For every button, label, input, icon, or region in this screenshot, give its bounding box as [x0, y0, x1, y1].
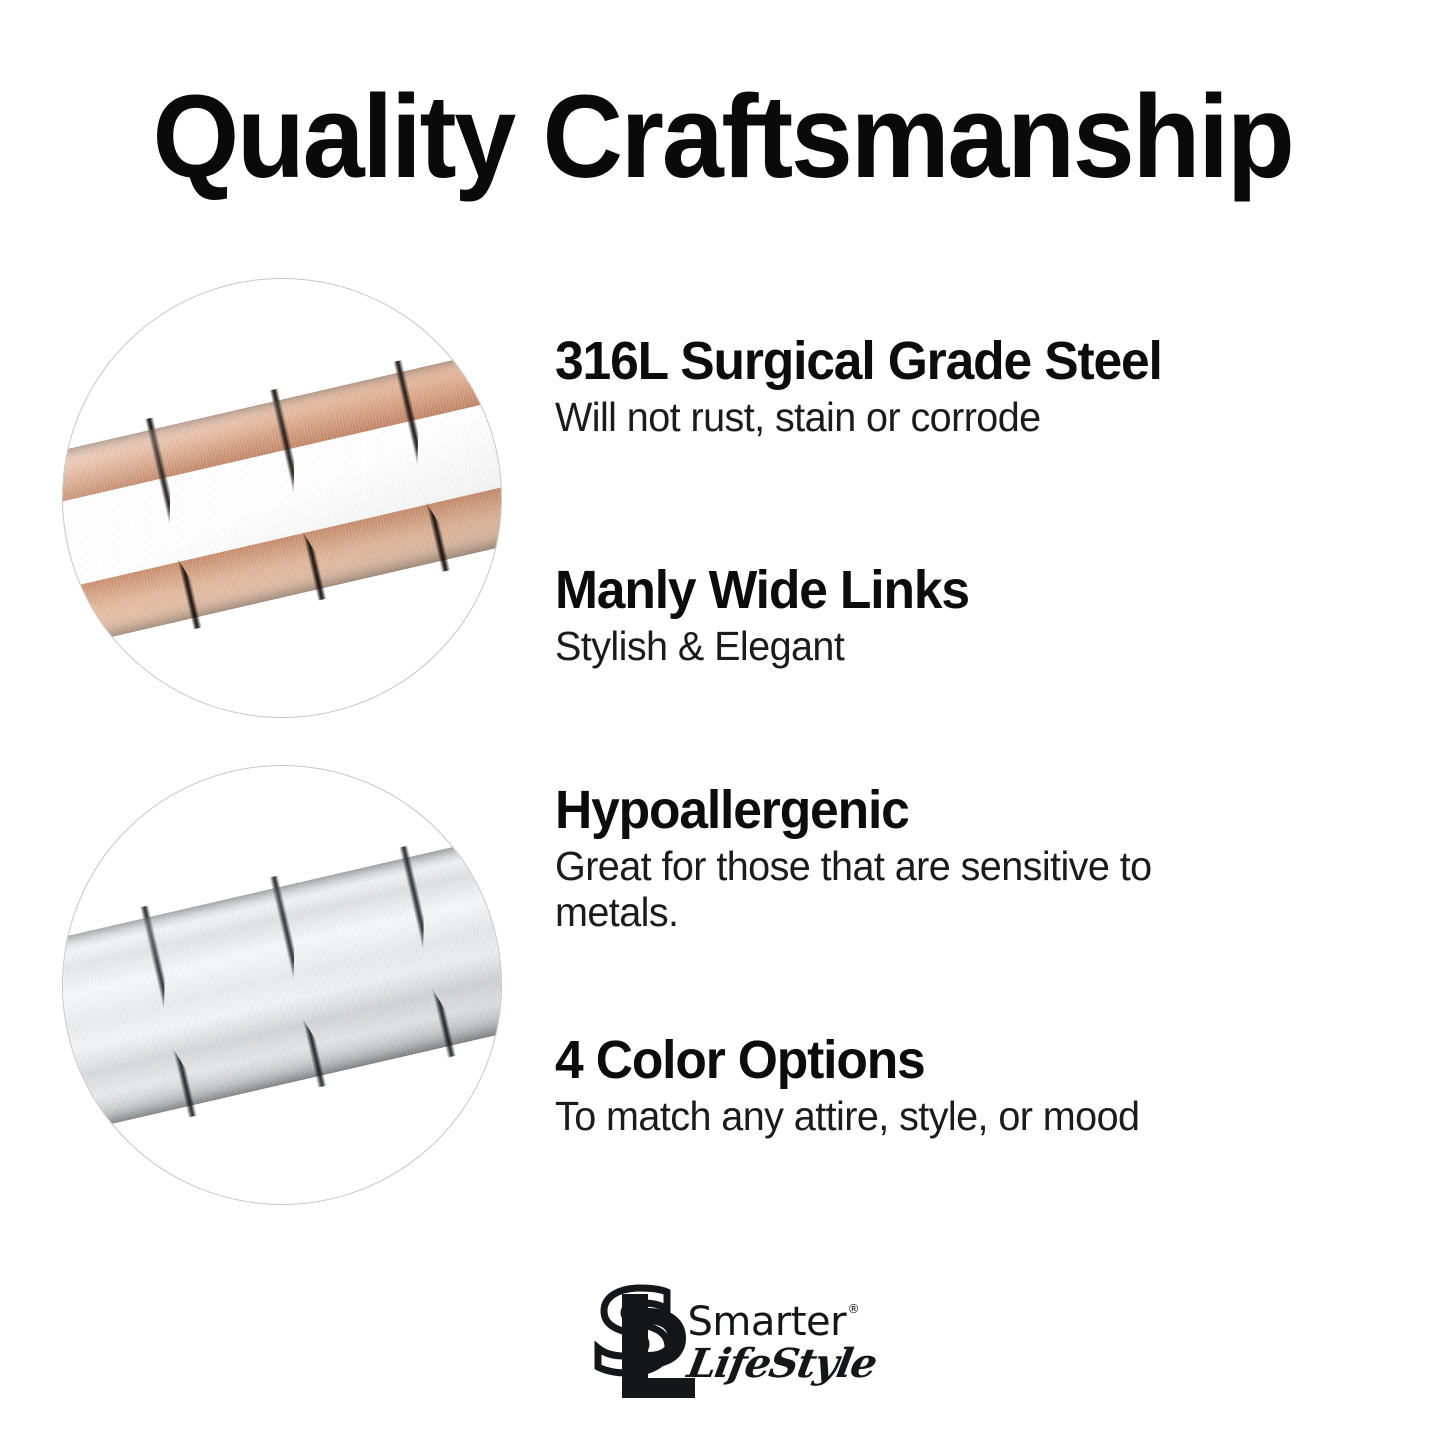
feature-title: Manly Wide Links — [555, 562, 1376, 618]
link-seam — [145, 417, 202, 629]
feature-item-color-options: 4 Color Options To match any attire, sty… — [555, 1032, 1415, 1140]
registered-trademark-icon: ® — [848, 1303, 860, 1315]
product-photo-silver-bracelet — [62, 765, 502, 1205]
product-photo-rose-gold-bracelet — [62, 278, 502, 718]
feature-title: 4 Color Options — [555, 1032, 1376, 1088]
bracelet-band-silver — [62, 826, 502, 1144]
link-seam — [139, 905, 196, 1117]
band-link-seams-silver — [62, 826, 502, 1144]
logo-smarter-text: Smarter ® — [688, 1302, 847, 1342]
link-seam — [269, 388, 326, 600]
link-seam — [62, 445, 78, 657]
logo-lifestyle-text: LifeStyle — [684, 1344, 875, 1384]
logo-wrap: Smarter ® LifeStyle — [580, 1282, 866, 1422]
link-seam — [62, 935, 67, 1147]
feature-item-hypoallergenic: Hypoallergenic Great for those that are … — [555, 782, 1415, 936]
feature-item-wide-links: Manly Wide Links Stylish & Elegant — [555, 562, 1415, 670]
feature-title: 316L Surgical Grade Steel — [555, 333, 1376, 389]
link-seam — [399, 845, 456, 1057]
link-seam — [393, 360, 450, 572]
feature-item-steel: 316L Surgical Grade Steel Will not rust,… — [555, 333, 1415, 441]
feature-subtitle: To match any attire, style, or mood — [555, 1094, 1385, 1140]
infographic-page: Quality Craftsmanship — [0, 0, 1445, 1445]
link-seam — [269, 875, 326, 1087]
logo-smarter-label: Smarter — [688, 1299, 847, 1345]
photo-inner-silver — [63, 766, 501, 1204]
bracelet-band-rose-gold — [62, 339, 502, 657]
feature-title: Hypoallergenic — [555, 782, 1376, 838]
sl-monogram-icon — [580, 1282, 700, 1400]
photo-inner-rose-gold — [63, 279, 501, 717]
feature-subtitle: Will not rust, stain or corrode — [555, 395, 1385, 441]
band-link-seams-rose — [62, 339, 502, 657]
feature-subtitle: Stylish & Elegant — [555, 624, 1385, 670]
logo-wordmark: Smarter ® LifeStyle — [688, 1302, 868, 1384]
feature-subtitle: Great for those that are sensitive to me… — [555, 844, 1231, 936]
brand-logo: Smarter ® LifeStyle — [0, 1282, 1445, 1422]
page-title: Quality Craftsmanship — [40, 78, 1406, 196]
